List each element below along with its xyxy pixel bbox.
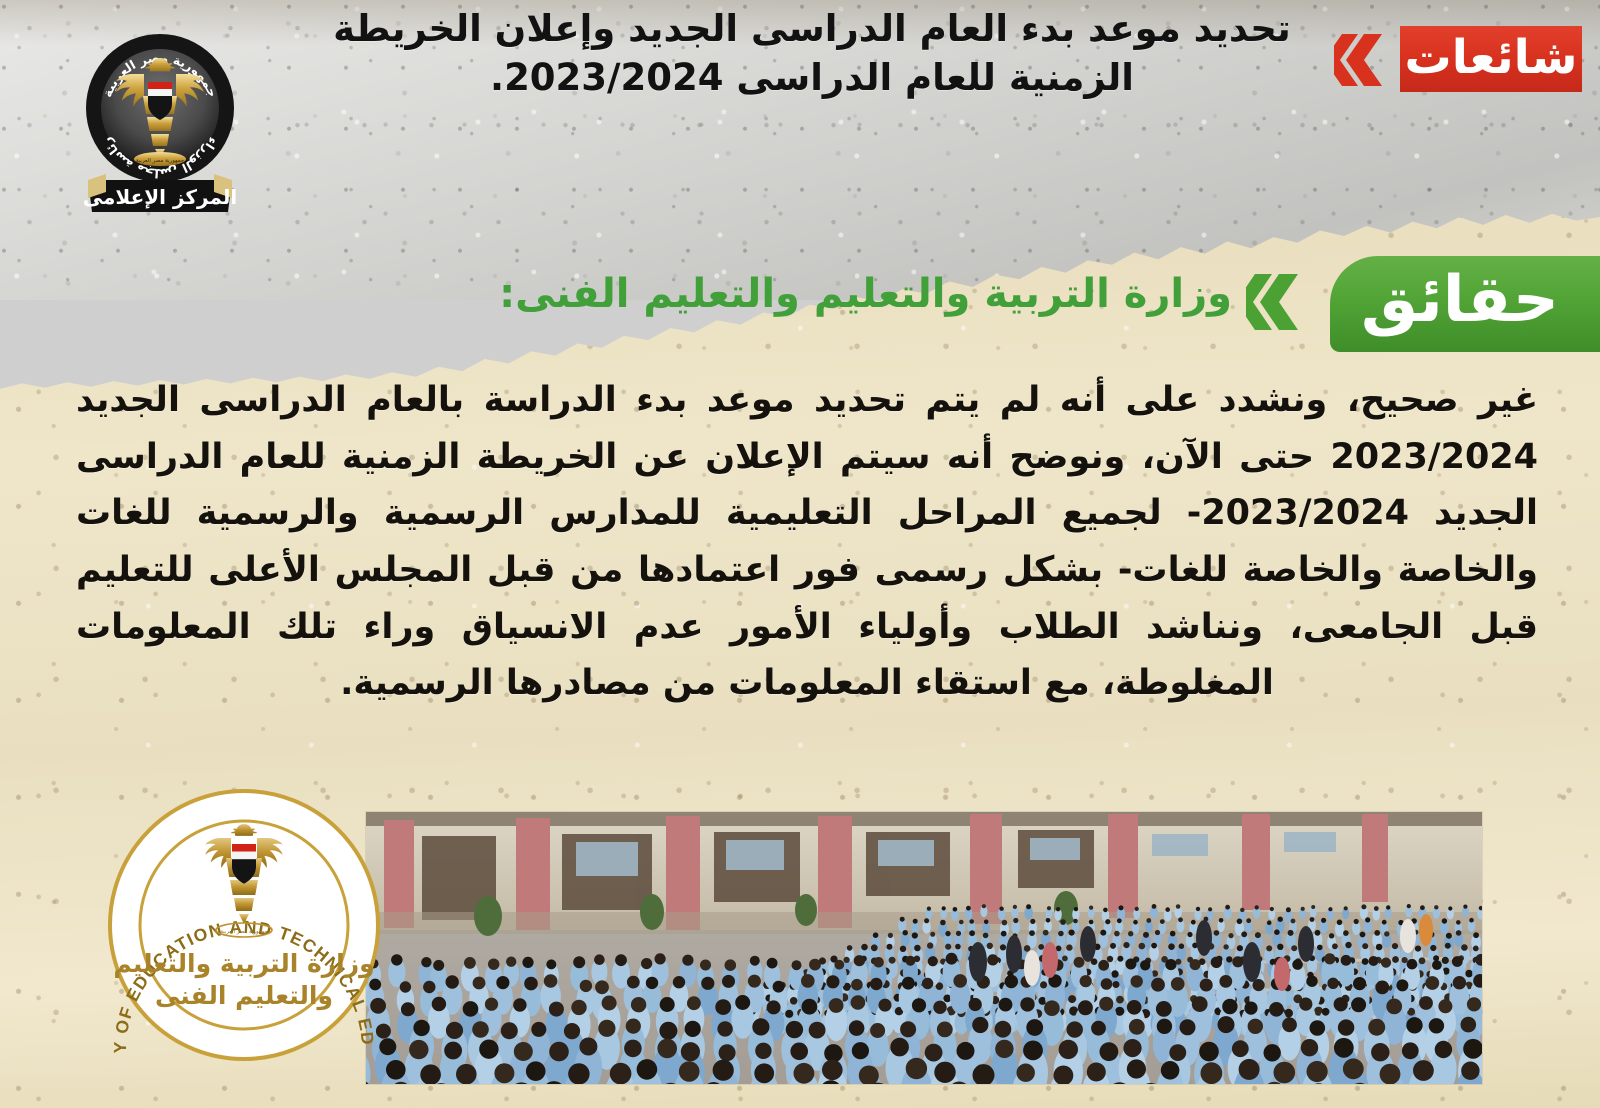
cabinet-media-center-logo: جمهورية مصر العربية رئاسة مجلس الوزراء [72,22,248,214]
moe-arabic-line-2: والتعليم الفنى [155,981,333,1011]
facts-body-text: غير صحيح، ونشدد على أنه لم يتم تحديد موع… [76,372,1538,712]
double-chevron-left-icon [1246,272,1308,332]
ministry-of-education-logo: MINISTRY OF EDUCATION AND TECHNICAL EDUC… [108,780,380,1070]
svg-text:المركز الإعلامى: المركز الإعلامى [83,185,237,209]
school-assembly-photo [366,812,1482,1084]
rumor-badge: شائعات [1400,26,1582,92]
moe-arabic-line-1: وزارة التربية والتعليم [113,949,374,979]
double-chevron-left-icon [1334,32,1392,88]
facts-badge-label: حقائق [1361,268,1569,340]
svg-text:جمهورية مصر العربية: جمهورية مصر العربية [136,158,184,164]
facts-subtitle: وزارة التربية والتعليم والتعليم الفنى: [499,270,1232,318]
facts-badge: حقائق [1330,256,1600,352]
svg-text:جمهورية مصر العربية: جمهورية مصر العربية [220,929,267,935]
infographic-poster: جمهورية مصر العربية رئاسة مجلس الوزراء [0,0,1600,1108]
rumor-title: تحديد موعد بدء العام الدراسى الجديد وإعل… [312,4,1312,102]
rumor-badge-label: شائعات [1405,34,1578,85]
